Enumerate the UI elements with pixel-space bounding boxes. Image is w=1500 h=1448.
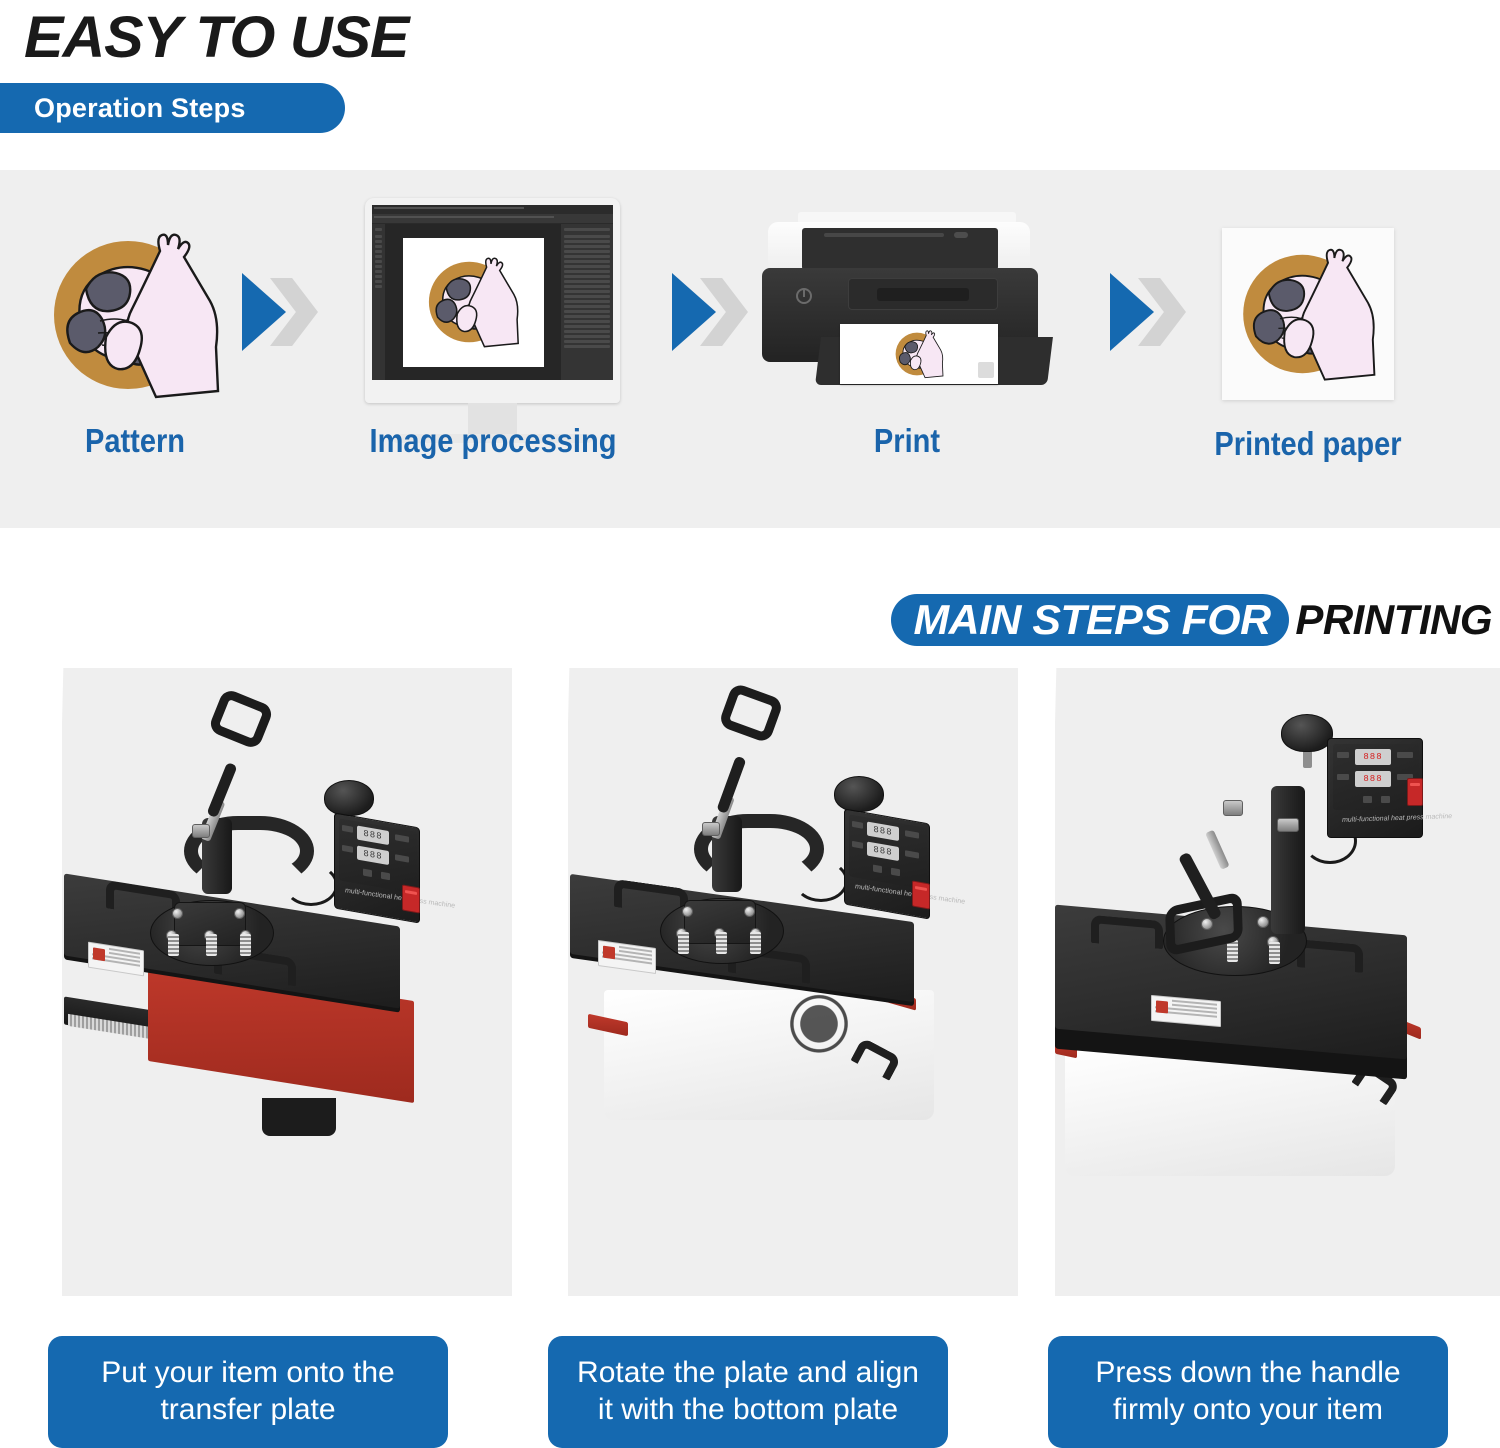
flow-caption-image-processing: Image processing — [369, 422, 617, 460]
hub-bolt — [1257, 916, 1269, 928]
main-steps-pill-label: MAIN STEPS FOR — [914, 596, 1271, 644]
header: EASY TO USE Operation Steps — [0, 0, 1500, 170]
pressure-adjust-knob[interactable] — [324, 780, 374, 816]
hub-bolt — [172, 908, 183, 919]
temperature-display: 888 — [867, 821, 899, 841]
control-panel-face: 888 888 — [849, 814, 927, 890]
flow-stage-image-processing: Image processing — [365, 198, 620, 446]
operation-steps-label: Operation Steps — [34, 93, 246, 124]
d-handle[interactable] — [718, 682, 784, 744]
step-photo-panel-2: 888 888 multi-functional heat press mach… — [568, 668, 1018, 1296]
panel-button-set[interactable] — [852, 821, 863, 829]
pressure-adjust-knob[interactable] — [1281, 714, 1333, 752]
flow-stage-print: Print — [762, 212, 1052, 397]
post-bolt — [1277, 818, 1299, 832]
panel-button-minus[interactable] — [363, 869, 372, 878]
pressure-spring — [240, 934, 251, 956]
editor-toolbar — [372, 224, 385, 380]
pug-pattern-artwork — [40, 225, 230, 410]
panel-button-set[interactable] — [1337, 752, 1349, 758]
step-caption-box-3: Press down the handlefirmly onto your it… — [1048, 1336, 1448, 1448]
editor-layers-panel — [561, 224, 613, 380]
power-rocker-switch[interactable] — [1407, 778, 1423, 806]
panel-button-minus[interactable] — [873, 865, 882, 874]
power-rocker-switch[interactable] — [912, 880, 930, 909]
options-bar-items — [374, 216, 554, 218]
chevron-right-arrow — [242, 273, 328, 351]
step-caption-box-2: Rotate the plate and alignit with the bo… — [548, 1336, 948, 1448]
lever-joint — [1223, 800, 1243, 816]
temp-value: 888 — [873, 825, 892, 838]
desktop-monitor-editor — [365, 198, 620, 446]
panel-button-minus[interactable] — [1363, 796, 1372, 803]
panel-button-plus[interactable] — [381, 872, 390, 881]
pressure-spring — [716, 932, 727, 954]
timer-display: 888 — [1355, 771, 1391, 787]
printer-front-cover — [848, 278, 998, 310]
editor-canvas-area — [385, 224, 561, 380]
page-title: EASY TO USE — [24, 4, 408, 71]
control-panel-face: 888 888 — [339, 818, 417, 894]
flow-caption-pattern: Pattern — [29, 422, 240, 460]
press-foot — [262, 1098, 336, 1136]
timer-display: 888 — [867, 841, 899, 861]
power-cord — [794, 860, 848, 902]
hub-bolt — [234, 908, 245, 919]
timer-value: 888 — [873, 845, 892, 858]
menubar-items — [374, 207, 524, 209]
chevron-right-arrow-3 — [1110, 273, 1196, 351]
monitor-screen — [372, 205, 613, 380]
timer-value: 888 — [363, 849, 382, 862]
panel-button-time[interactable] — [395, 854, 409, 862]
power-rocker-switch[interactable] — [402, 884, 420, 913]
printer-output-paper — [840, 324, 998, 384]
pressure-spring — [168, 934, 179, 956]
monitor-chin — [372, 380, 613, 396]
flow-caption-printed-paper: Printed paper — [1199, 425, 1417, 463]
printer-paper-guide — [978, 362, 994, 378]
machine-brand-text: multi-functional heat press machine — [1342, 813, 1452, 824]
step-photo-panel-3: 888 888 multi-functional heat press mach… — [1055, 668, 1500, 1296]
flow-stage-pattern: Pattern — [40, 225, 230, 410]
arm-vertical-post — [1271, 786, 1305, 934]
panel-button-mode[interactable] — [1337, 774, 1349, 780]
panel-button-plus[interactable] — [1381, 796, 1390, 803]
timer-display: 888 — [357, 845, 389, 865]
temperature-display: 888 — [1355, 749, 1391, 765]
temp-value: 888 — [1363, 752, 1382, 762]
editor-canvas — [403, 238, 544, 367]
lever-joint — [702, 822, 720, 836]
pressure-spring — [678, 932, 689, 954]
heat-press-closed-pressing-tshirt: 888 888 multi-functional heat press mach… — [1055, 668, 1500, 1296]
printed-transfer-sheet — [1222, 228, 1394, 400]
printer-lid-slot — [824, 233, 944, 237]
lever-rod[interactable] — [1205, 830, 1229, 870]
printer-scanner-lid — [802, 228, 998, 270]
lever-joint — [192, 824, 210, 838]
step-caption-2: Rotate the plate and alignit with the bo… — [577, 1355, 919, 1428]
triangle-arrow-icon — [242, 273, 286, 351]
panel-button-mode[interactable] — [342, 845, 353, 853]
panel-button-mode[interactable] — [852, 841, 863, 849]
triangle-arrow-icon — [1110, 273, 1154, 351]
main-steps-pill: MAIN STEPS FOR — [891, 594, 1289, 646]
step-caption-box-1: Put your item onto thetransfer plate — [48, 1336, 448, 1448]
power-cord — [284, 864, 338, 906]
inkjet-printer — [762, 212, 1052, 397]
hub-bolt — [682, 906, 693, 917]
panel-button-plus[interactable] — [891, 868, 900, 877]
step-photo-panel-1: 888 888 multi-functional heat press mach… — [62, 668, 512, 1296]
monitor-body — [365, 198, 620, 403]
heat-press-rotated-over-tshirt: 888 888 multi-functional heat press mach… — [568, 668, 1018, 1296]
heat-press-open-with-red-silicone-mat: 888 888 multi-functional heat press mach… — [62, 668, 512, 1296]
timer-value: 888 — [1363, 774, 1382, 784]
panel-button-temp[interactable] — [905, 830, 919, 838]
main-steps-trailing-label: PRINTING — [1295, 596, 1492, 644]
temperature-display: 888 — [357, 825, 389, 845]
pressure-spring — [1269, 942, 1280, 964]
panel-button-temp[interactable] — [1397, 752, 1413, 758]
power-button-icon[interactable] — [796, 288, 812, 304]
temp-value: 888 — [363, 829, 382, 842]
pressure-adjust-knob[interactable] — [834, 776, 884, 812]
printer-lid-vent — [954, 232, 968, 238]
operation-flow-band: Pattern — [0, 170, 1500, 528]
editor-menubar — [372, 205, 613, 214]
printer-cover-grip — [877, 288, 969, 301]
pressure-spring — [206, 934, 217, 956]
flow-stage-printed-paper: Printed paper — [1222, 228, 1394, 400]
main-steps-title: MAIN STEPS FOR PRINTING — [891, 592, 1492, 648]
step-caption-1: Put your item onto thetransfer plate — [101, 1355, 395, 1428]
operation-steps-badge: Operation Steps — [0, 83, 345, 133]
chevron-right-arrow-2 — [672, 273, 758, 351]
panel-button-temp[interactable] — [395, 834, 409, 842]
hub-bolt — [744, 906, 755, 917]
panel-button-set[interactable] — [342, 825, 353, 833]
step-caption-3: Press down the handlefirmly onto your it… — [1095, 1355, 1400, 1428]
plate-side-handle-right[interactable] — [1297, 939, 1363, 973]
d-handle[interactable] — [207, 688, 274, 751]
pressure-spring — [750, 932, 761, 954]
editor-options-bar — [372, 214, 613, 224]
triangle-arrow-icon — [672, 273, 716, 351]
panel-button-time[interactable] — [905, 850, 919, 858]
flow-caption-print: Print — [801, 422, 1012, 460]
